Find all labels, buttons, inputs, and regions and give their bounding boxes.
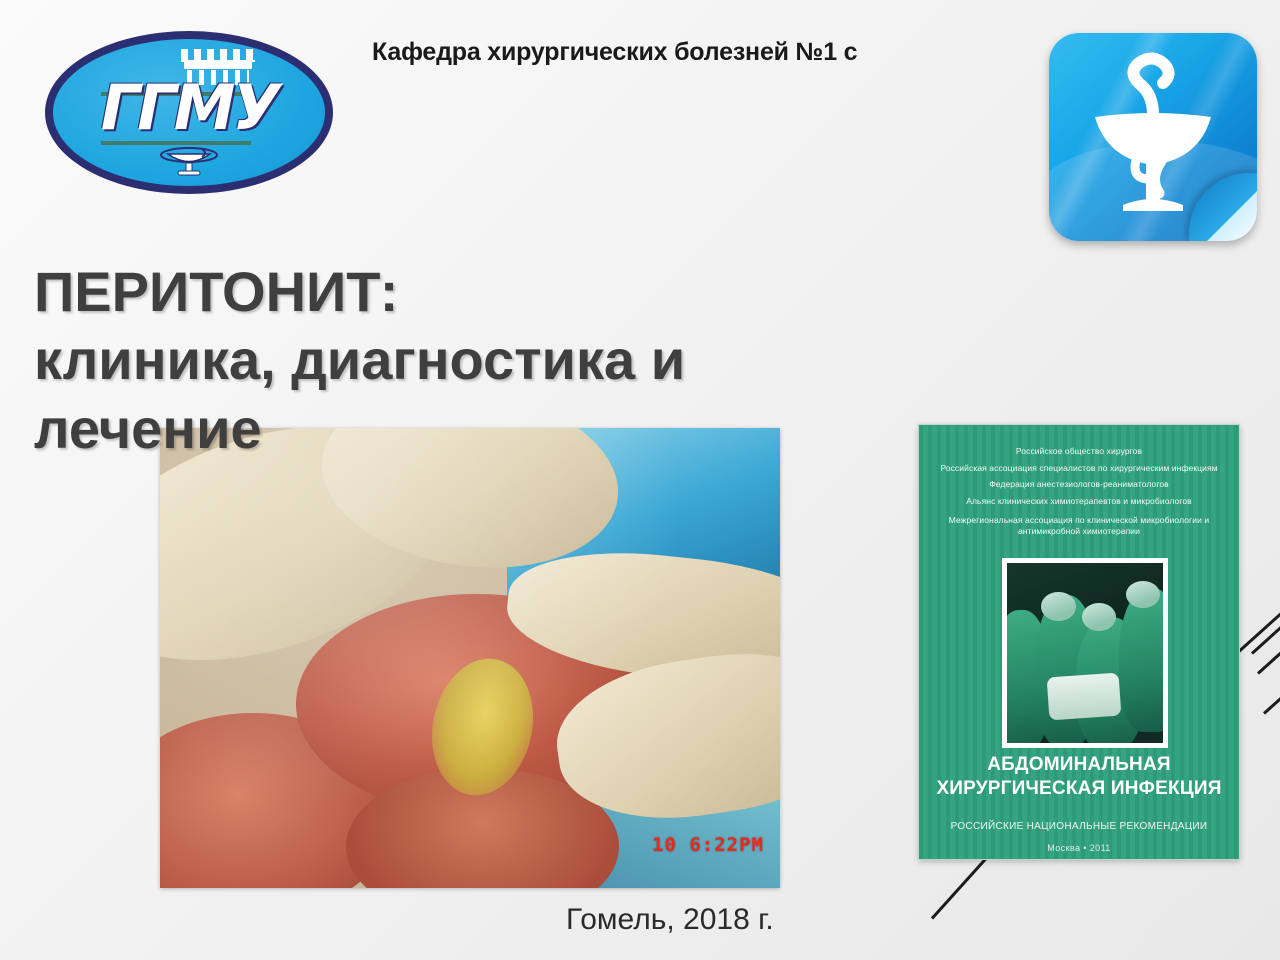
university-logo: ГГМУ <box>45 31 333 194</box>
book-cover: Российское общество хирургов Российская … <box>918 424 1240 860</box>
book-title: АБДОМИНАЛЬНАЯ ХИРУРГИЧЕСКАЯ ИНФЕКЦИЯ <box>929 753 1229 802</box>
pharmacy-icon <box>1049 33 1257 241</box>
book-organization-line: Альянс клинических химиотерапевтов и мик… <box>927 493 1231 510</box>
title-line-1: ПЕРИТОНИТ: <box>34 258 934 326</box>
bowl-of-hygieia-icon <box>158 143 220 177</box>
book-organization-line: Российская ассоциация специалистов по хи… <box>927 460 1231 477</box>
slide-caption: Гомель, 2018 г. <box>566 903 774 937</box>
surgical-cap <box>1041 592 1075 621</box>
surgical-cap <box>1126 581 1160 608</box>
operating-field <box>1046 672 1121 720</box>
photo-timestamp: 10 6:22PM <box>652 834 764 856</box>
book-organization-line: Российское общество хирургов <box>927 443 1231 460</box>
book-organization-line: Федерация анестезиологов-реаниматологов <box>927 476 1231 493</box>
book-subtitle: РОССИЙСКИЕ НАЦИОНАЛЬНЫЕ РЕКОМЕНДАЦИИ <box>929 821 1229 832</box>
book-cover-photo <box>1002 558 1168 748</box>
title-line-2: клиника, диагностика и <box>34 326 934 394</box>
logo-letters: ГГМУ <box>45 77 333 139</box>
page-title: ПЕРИТОНИТ: клиника, диагностика и лечени… <box>34 258 934 463</box>
department-header: Кафедра хирургических болезней №1 с <box>372 38 857 67</box>
decorative-diagonal-line <box>1263 632 1280 715</box>
presentation-slide: Кафедра хирургических болезней №1 с ГГМУ <box>0 0 1280 960</box>
book-organizations: Российское общество хирургов Российская … <box>927 443 1231 537</box>
book-imprint: Москва • 2011 <box>929 843 1229 853</box>
photo-highlight <box>160 428 780 888</box>
surgeon-figure <box>1119 588 1168 732</box>
book-organization-line: Межрегиональная ассоциация по клиническо… <box>927 515 1231 536</box>
surgical-photo: 10 6:22PM <box>160 428 780 888</box>
title-line-3: лечение <box>34 395 934 463</box>
